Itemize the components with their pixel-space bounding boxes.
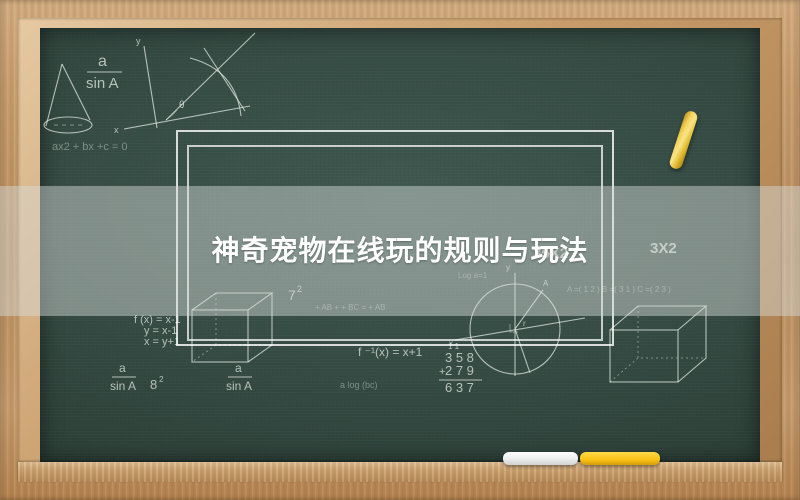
axis-x-label: x xyxy=(114,125,119,135)
yellow-chalk-icon xyxy=(580,452,660,465)
fraction-numerator: a xyxy=(98,53,107,70)
fraction-a-over-sina-bottom: a sin A xyxy=(110,361,136,393)
quadratic-equation: ax2 + bx +c = 0 xyxy=(52,141,128,153)
eight-squared: 8 2 xyxy=(150,375,164,392)
angle-theta-label: θ xyxy=(179,100,185,111)
log-note: a log (bc) xyxy=(340,380,378,390)
eight-base: 8 xyxy=(150,377,157,392)
fraction-a2-numerator: a xyxy=(235,361,242,375)
eight-exponent: 2 xyxy=(159,375,164,384)
cone-drawing xyxy=(44,64,92,133)
fraction-a-over-sina-center: a sin A xyxy=(226,361,252,393)
function-line-2: x = y+1 xyxy=(144,336,180,348)
inverse-function-note: f ⁻¹(x) = x+1 xyxy=(358,345,423,359)
fraction-denominator: sin A xyxy=(86,75,119,92)
angle-axes-drawing: y x θ xyxy=(114,33,255,135)
fraction-a-numerator: a xyxy=(119,361,126,375)
wooden-frame: a sin A y x θ ax2 + bx +c = 0 f (x) = xyxy=(0,0,800,500)
cube-drawing-right xyxy=(610,306,706,382)
addition-sum: 6 3 7 xyxy=(445,380,474,395)
fraction-sina-denominator: sin A xyxy=(110,379,136,393)
fraction-sina2-denominator: sin A xyxy=(226,379,252,393)
page-title: 神奇宠物在线玩的规则与玩法 xyxy=(211,237,588,265)
fraction-a-over-sina-top: a sin A xyxy=(86,53,122,92)
white-chalk-icon xyxy=(503,452,578,465)
addition-bottom: 2 7 9 xyxy=(445,363,474,378)
title-overlay-band: 神奇宠物在线玩的规则与玩法 xyxy=(0,186,800,316)
function-lines-group: f (x) = x-1 y = x-1 x = y+1 xyxy=(134,314,181,348)
axis-y-label: y xyxy=(136,36,141,46)
chalk-ledge xyxy=(18,462,782,482)
